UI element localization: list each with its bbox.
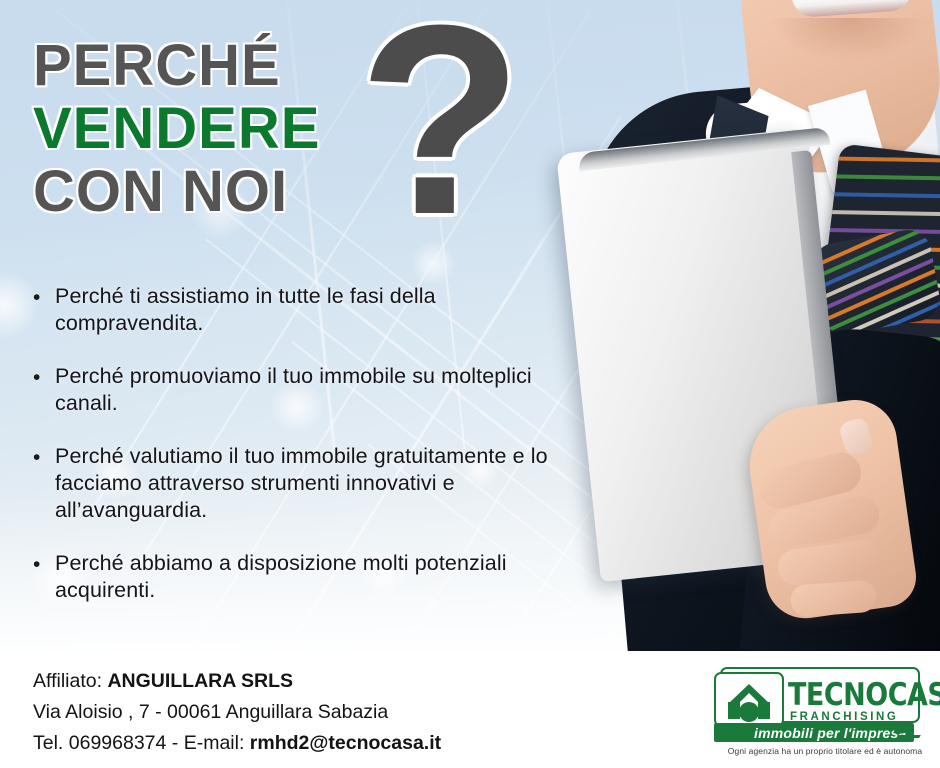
house-circle-shape bbox=[739, 702, 759, 722]
bullet-text: Perché ti assistiamo in tutte le fasi de… bbox=[55, 283, 553, 337]
affiliate-name: ANGUILLARA SRLS bbox=[107, 670, 293, 692]
scarf-stripe bbox=[815, 192, 940, 199]
list-item: • Perché ti assistiamo in tutte le fasi … bbox=[33, 283, 553, 337]
headline-line-2: VENDERE bbox=[33, 97, 320, 160]
phone-email-line: Tel. 069968374 - E-mail: rmhd2@tecnocasa… bbox=[33, 728, 441, 759]
headline-line-3: CON NOI bbox=[33, 160, 320, 223]
chin-shadow bbox=[770, 18, 930, 62]
affiliate-line: Affiliato: ANGUILLARA SRLS bbox=[33, 666, 441, 697]
arrow-mark bbox=[893, 730, 913, 733]
address-line: Via Aloisio , 7 - 00061 Anguillara Sabaz… bbox=[33, 697, 441, 728]
contact-block: Affiliato: ANGUILLARA SRLS Via Aloisio ,… bbox=[33, 666, 441, 759]
businesswoman-photo bbox=[520, 0, 940, 651]
house-icon bbox=[728, 684, 770, 724]
finger bbox=[789, 580, 877, 618]
scarf-stripe bbox=[812, 210, 940, 217]
bullet-marker-icon: • bbox=[33, 283, 55, 313]
list-item: • Perché valutiamo il tuo immobile gratu… bbox=[33, 443, 553, 524]
disclaimer-text: Ogni agenzia ha un proprio titolare ed è… bbox=[722, 746, 928, 756]
bullet-marker-icon: • bbox=[33, 550, 55, 580]
bullet-text: Perché valutiamo il tuo immobile gratuit… bbox=[55, 443, 553, 524]
brand-name: TECNOCASA bbox=[788, 677, 940, 713]
bullet-text: Perché abbiamo a disposizione molti pote… bbox=[55, 550, 553, 604]
email-address[interactable]: rmhd2@tecnocasa.it bbox=[250, 732, 441, 754]
hand-holding-laptop bbox=[742, 395, 920, 624]
question-mark-graphic: ? bbox=[358, 0, 523, 256]
headline-line-1: PERCHÉ bbox=[33, 34, 320, 97]
bullet-marker-icon: • bbox=[33, 443, 55, 473]
footer-bar: Affiliato: ANGUILLARA SRLS Via Aloisio ,… bbox=[0, 651, 940, 768]
arrows-icon bbox=[890, 725, 924, 740]
brand-wordmark: TECNOCASA® bbox=[788, 674, 940, 713]
logo-card-group: TECNOCASA® FRANCHISING NETWORK bbox=[714, 667, 920, 723]
bullet-marker-icon: • bbox=[33, 363, 55, 393]
list-item: • Perché abbiamo a disposizione molti po… bbox=[33, 550, 553, 604]
arrow-mark bbox=[889, 725, 905, 728]
headline-block: PERCHÉ VENDERE CON NOI bbox=[33, 34, 320, 223]
tagline-bar: immobili per l'impresa bbox=[714, 723, 914, 742]
tecnocasa-logo: TECNOCASA® FRANCHISING NETWORK immobili … bbox=[706, 661, 928, 761]
list-item: • Perché promuoviamo il tuo immobile su … bbox=[33, 363, 553, 417]
fingernail bbox=[838, 416, 875, 457]
bullet-text: Perché promuoviamo il tuo immobile su mo… bbox=[55, 363, 553, 417]
hero-image-area: ? PERCHÉ VENDERE CON NOI • Perché ti ass… bbox=[0, 0, 940, 651]
tagline-text: immobili per l'impresa bbox=[754, 725, 906, 741]
house-wall-right bbox=[758, 702, 770, 719]
benefits-list: • Perché ti assistiamo in tutte le fasi … bbox=[33, 283, 553, 630]
logo-card-front bbox=[714, 672, 784, 727]
affiliate-label: Affiliato: bbox=[33, 670, 102, 692]
advertisement-poster: ? PERCHÉ VENDERE CON NOI • Perché ti ass… bbox=[0, 0, 940, 768]
phone-label: Tel. 069968374 - E-mail: bbox=[33, 732, 244, 754]
arrow-mark bbox=[897, 735, 921, 738]
